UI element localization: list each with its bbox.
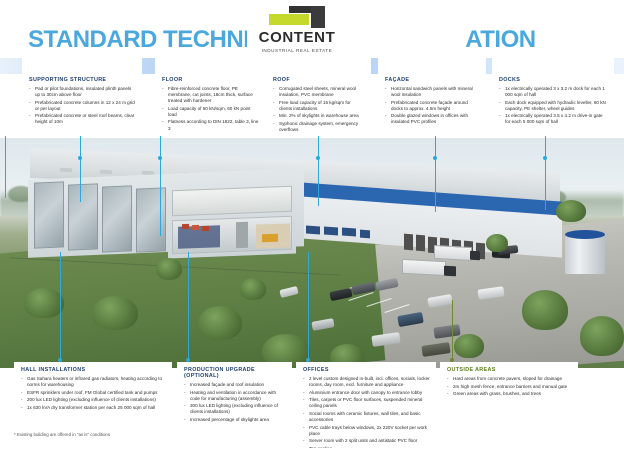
tree-foreground (486, 234, 508, 252)
list-item: Prefabricated concrete façade around doc… (385, 100, 480, 112)
info-box-title: OFFICES (303, 367, 430, 373)
info-box-list: Hard areas from concrete pavers, sloped … (447, 376, 572, 397)
list-item: Social rooms with ceramic fixtures, wall… (303, 411, 430, 423)
info-box-roof: ROOF Corrugated steel sheets, mineral wo… (266, 72, 371, 136)
office-window (324, 226, 338, 235)
callout-line (188, 252, 189, 362)
logo-tagline: INDUSTRIAL REAL ESTATE (262, 48, 333, 53)
list-item: 1x electrically operated 3.5 x 4.2 m dri… (499, 113, 608, 125)
list-item: Hard areas from concrete pavers, sloped … (447, 376, 572, 382)
info-box-list: Fibre-reinforced concrete floor, PE memb… (162, 86, 259, 132)
callout-dot (316, 156, 320, 160)
silo-top (565, 230, 605, 239)
list-item: Server room with 2 split units and antis… (303, 438, 430, 444)
truck-cab (470, 251, 480, 261)
list-item: Pad or pilot foundations, insulated plin… (29, 86, 136, 98)
info-box-list: Horizontal sandwich panels with mineral … (385, 86, 480, 126)
building-render (0, 138, 624, 368)
footnote: * Existing building are offered in "as i… (14, 432, 110, 437)
callout-line (80, 136, 81, 202)
info-box-title: DOCKS (499, 77, 608, 83)
list-item: Horizontal sandwich panels with mineral … (385, 86, 480, 98)
callout-line (452, 300, 453, 362)
office-window (306, 225, 320, 234)
info-box-list: 2 level custom designed in-built, incl. … (303, 376, 430, 452)
list-item: Each dock equipped with hydraulic levell… (499, 100, 608, 112)
list-item: Heating and ventilation in accordance wi… (184, 390, 286, 402)
info-box-title: PRODUCTION UPGRADE (OPTIONAL) (184, 367, 286, 379)
tree-foreground (580, 316, 624, 356)
list-item: PVC cable trays below windows, 2x 220V s… (303, 425, 430, 437)
office-stairwell (236, 222, 248, 248)
info-box-facade: FAÇADE Horizontal sandwich panels with m… (378, 72, 486, 136)
storage-silo (565, 234, 605, 274)
callout-line (435, 136, 436, 212)
list-item: Tiles, carpets or PVC floor surfaces, su… (303, 397, 430, 409)
tree-foreground (556, 200, 586, 222)
office-window (342, 227, 356, 236)
info-box-docks: DOCKS 1x electrically operated 3 x 3.2 m… (492, 72, 614, 136)
callout-dot (158, 156, 162, 160)
callout-line (60, 252, 61, 362)
truck-trailer (434, 245, 472, 261)
logo-bar-green (269, 14, 309, 25)
list-item: Gas Sahara heaters or infrared gas radia… (21, 376, 166, 388)
office-furniture (262, 234, 278, 243)
info-box-list: Increased façade and roof insulation Hea… (184, 382, 286, 423)
glass-bay (34, 181, 64, 248)
poster-page: STANDARD TECHNICALATION CONTENT INDUSTRI… (0, 0, 624, 468)
logo-mark-icon (269, 6, 325, 28)
office-window (360, 230, 370, 239)
info-box-list: Pad or pilot foundations, insulated plin… (29, 86, 136, 126)
tree-foreground (198, 306, 242, 340)
callout-line (308, 252, 309, 362)
callout-line (545, 136, 546, 210)
title-part-two: ATION (465, 26, 535, 53)
list-item: Prefabricated concrete columns in 12 x 2… (29, 100, 136, 112)
office-upper-floor (172, 186, 292, 217)
list-item: ESFR sprinklers under roof, FM Global ce… (21, 390, 166, 396)
list-item: 200 lux LED lighting (excluding influenc… (21, 397, 166, 403)
info-box-outside-areas: OUTSIDE AREAS Hard areas from concrete p… (440, 362, 578, 420)
info-box-production-upgrade: PRODUCTION UPGRADE (OPTIONAL) Increased … (177, 362, 292, 420)
list-item: Corrugated steel sheets, mineral wool in… (273, 86, 365, 98)
list-item: Increased façade and roof insulation (184, 382, 286, 388)
loading-dock (404, 234, 413, 251)
list-item: Free load capacity of 15 kg/sqm for clie… (273, 100, 365, 112)
info-box-hall-installations: HALL INSTALLATIONS Gas Sahara heaters or… (14, 362, 172, 420)
callout-dot (433, 156, 437, 160)
glass-bay (102, 185, 132, 252)
callout-dot (543, 156, 547, 160)
footer-area (0, 448, 624, 468)
list-item: Min. 2% of skylights in warehouse area (273, 113, 365, 119)
list-item: Prefabricated concrete or steel roof bea… (29, 113, 136, 125)
list-item: 2m high mesh fence, entrance barriers an… (447, 384, 572, 390)
logo-wordmark: CONTENT (259, 30, 336, 46)
list-item: Flatness according to DIN 1822, table 3,… (162, 119, 259, 131)
callout-line (318, 136, 319, 206)
callout-line (5, 136, 6, 198)
tree-foreground (522, 290, 568, 330)
info-box-title: FAÇADE (385, 77, 480, 83)
info-box-title: OUTSIDE AREAS (447, 367, 572, 373)
list-item: 1x 630 kVA dry transformer station per e… (21, 405, 166, 411)
list-item: Double glazed windows in offices with in… (385, 113, 480, 125)
tree-foreground (92, 296, 138, 330)
list-item: Syphonic drainage system, emergency over… (273, 121, 365, 133)
truck-cab (444, 266, 456, 277)
loading-dock (416, 235, 425, 252)
list-item: Load capacity of 50 kN/sqm, 60 kN point … (162, 106, 259, 118)
info-box-offices: OFFICES 2 level custom designed in-built… (296, 362, 436, 446)
info-box-list: Corrugated steel sheets, mineral wool in… (273, 86, 365, 133)
list-item: 1x electrically operated 3 x 3.2 m dock … (499, 86, 608, 98)
info-box-supporting-structure: SUPPORTING STRUCTURE Pad or pilot founda… (22, 72, 142, 136)
list-item: 300 lux LED lighting (excluding influenc… (184, 403, 286, 415)
skylight (100, 170, 112, 175)
tree-foreground (454, 334, 484, 358)
skylight (60, 168, 72, 173)
info-box-title: HALL INSTALLATIONS (21, 367, 166, 373)
glass-bay (68, 183, 98, 250)
callout-dot (78, 156, 82, 160)
tree-foreground (24, 288, 64, 318)
office-furniture (192, 225, 199, 230)
list-item: Increased percentage of skylights area (184, 417, 286, 423)
truck-trailer (402, 259, 446, 276)
logo-bar-dark-right (311, 6, 325, 28)
info-box-floor: FLOOR Fibre-reinforced concrete floor, P… (155, 72, 265, 136)
info-box-title: ROOF (273, 77, 365, 83)
callout-line (160, 136, 161, 236)
office-furniture (202, 226, 209, 231)
content-logo: CONTENT INDUSTRIAL REAL ESTATE (247, 4, 347, 66)
glass-bay (136, 187, 166, 252)
info-box-list: Gas Sahara heaters or infrared gas radia… (21, 376, 166, 411)
info-box-list: 1x electrically operated 3 x 3.2 m dock … (499, 86, 608, 126)
list-item: Fibre-reinforced concrete floor, PE memb… (162, 86, 259, 104)
tree-foreground (240, 278, 266, 300)
list-item: Aluminium entrance door with canopy to e… (303, 390, 430, 396)
tree-foreground (156, 258, 182, 280)
list-item: 2 level custom designed in-built, incl. … (303, 376, 430, 388)
info-box-title: FLOOR (162, 77, 259, 83)
info-box-title: SUPPORTING STRUCTURE (29, 77, 136, 83)
office-furniture (182, 224, 189, 229)
list-item: Green areas with grass, brushes, and tre… (447, 391, 572, 397)
